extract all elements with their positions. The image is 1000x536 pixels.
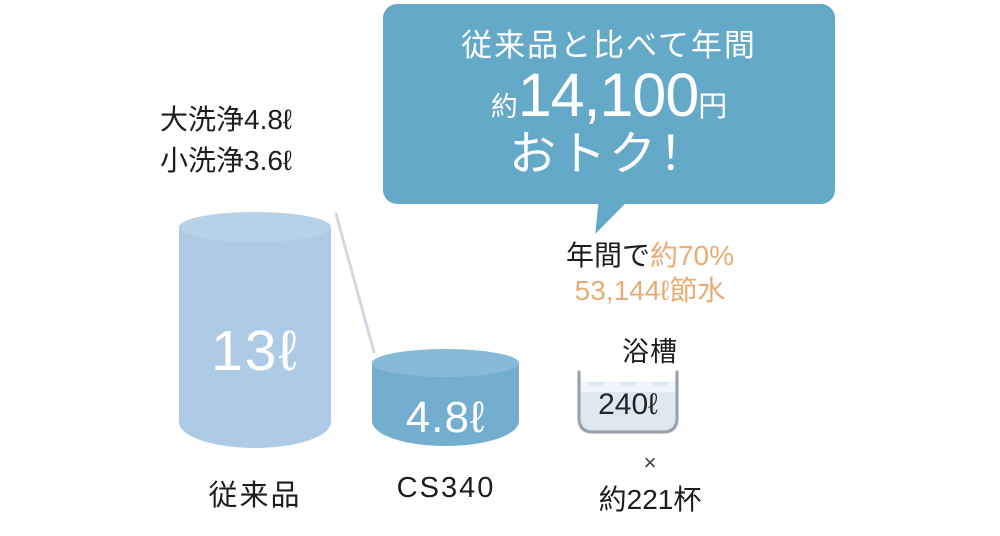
bathtub-count: 約221杯 — [520, 478, 780, 518]
multiply-symbol: × — [520, 452, 780, 474]
savings-callout-bubble: 従来品と比べて年間 約 14,100 円 おトク！ — [383, 4, 835, 204]
cylinder-conventional-value: 13ℓ — [179, 318, 331, 384]
cylinder-cs340: 4.8ℓ — [372, 349, 519, 459]
savings-percent: 約70% — [650, 240, 734, 271]
savings-volume: 53,144ℓ節水 — [520, 273, 780, 308]
wash-volume-note: 大洗浄4.8ℓ 小洗浄3.6ℓ — [160, 100, 380, 181]
annual-savings-stats: 年間で約70% 53,144ℓ節水 — [520, 238, 780, 308]
cylinder-conventional-caption: 従来品 — [160, 472, 350, 514]
bathtub-capacity-value: 240ℓ — [572, 388, 684, 422]
bubble-approx-prefix: 約 — [491, 94, 518, 121]
bubble-headline: 従来品と比べて年間 — [461, 28, 757, 64]
infographic-canvas: 従来品と比べて年間 約 14,100 円 おトク！ 大洗浄4.8ℓ 小洗浄3.6… — [0, 0, 1000, 536]
bubble-amount-value: 14,100 — [518, 65, 699, 126]
wash-volume-large: 大洗浄4.8ℓ — [160, 100, 380, 141]
wash-volume-small: 小洗浄3.6ℓ — [160, 141, 380, 182]
cylinder-cs340-top-ellipse — [372, 349, 519, 377]
bubble-amount-row: 約 14,100 円 — [491, 65, 728, 126]
comparison-connector-line — [320, 210, 400, 370]
savings-percent-line: 年間で約70% — [520, 238, 780, 273]
bubble-currency-unit: 円 — [698, 93, 727, 122]
savings-prefix: 年間で — [566, 240, 650, 271]
bathtub-icon: 240ℓ — [572, 366, 684, 438]
cylinder-cs340-value: 4.8ℓ — [372, 393, 519, 443]
cylinder-conventional: 13ℓ — [179, 212, 331, 462]
bathtub-label: 浴槽 — [520, 330, 780, 369]
cylinder-conventional-top-ellipse — [179, 212, 331, 242]
cylinder-cs340-caption: CS340 — [372, 472, 520, 505]
bubble-tail — [595, 200, 629, 234]
bubble-tagline: おトク！ — [509, 128, 709, 180]
